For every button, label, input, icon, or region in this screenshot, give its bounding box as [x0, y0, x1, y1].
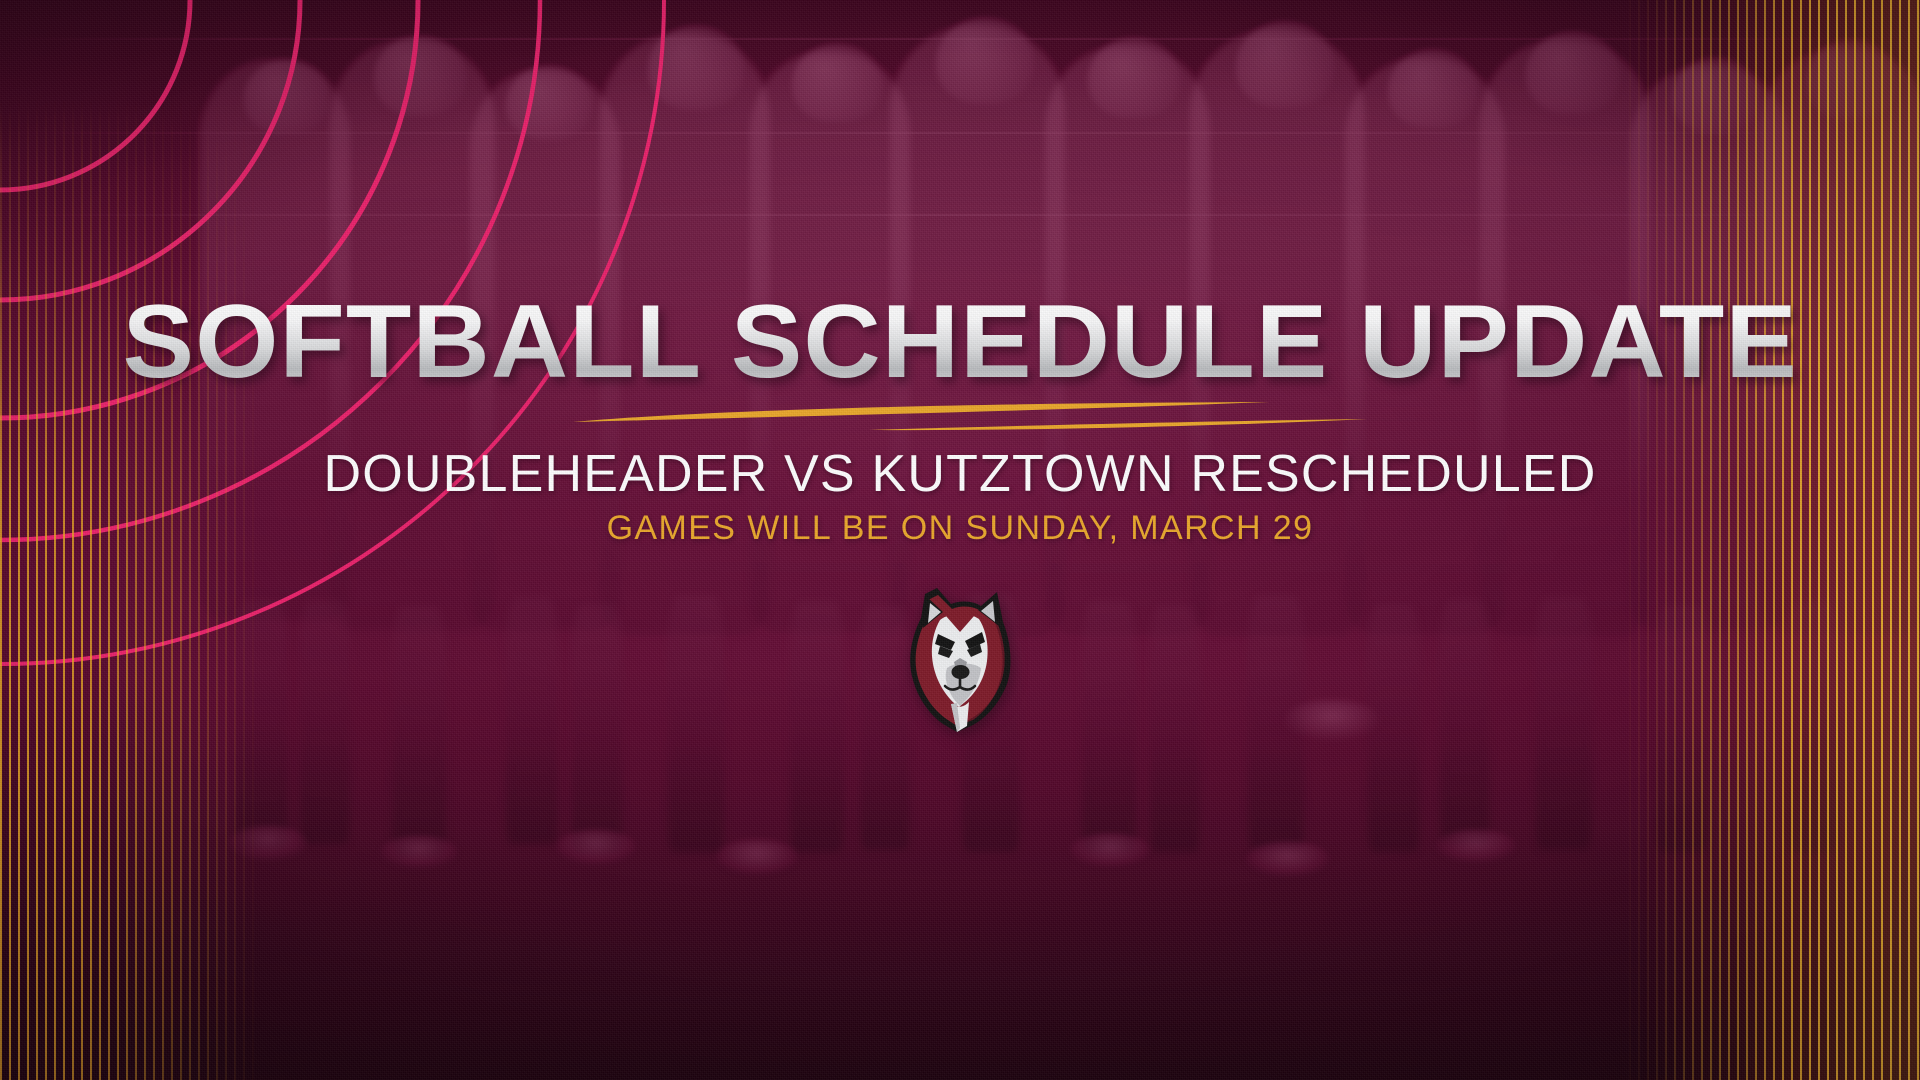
- gold-swoosh-underline: [569, 400, 1369, 434]
- page-title: SOFTBALL SCHEDULE UPDATE: [122, 290, 1797, 394]
- schedule-update-graphic: SOFTBALL SCHEDULE UPDATE DOUBLEHEADER VS…: [0, 0, 1920, 1080]
- page-detail-line: GAMES WILL BE ON SUNDAY, MARCH 29: [607, 509, 1314, 548]
- page-subtitle: DOUBLEHEADER VS KUTZTOWN RESCHEDULED: [323, 448, 1596, 501]
- husky-head-logo: [899, 576, 1021, 734]
- content-stack: SOFTBALL SCHEDULE UPDATE DOUBLEHEADER VS…: [0, 0, 1920, 1080]
